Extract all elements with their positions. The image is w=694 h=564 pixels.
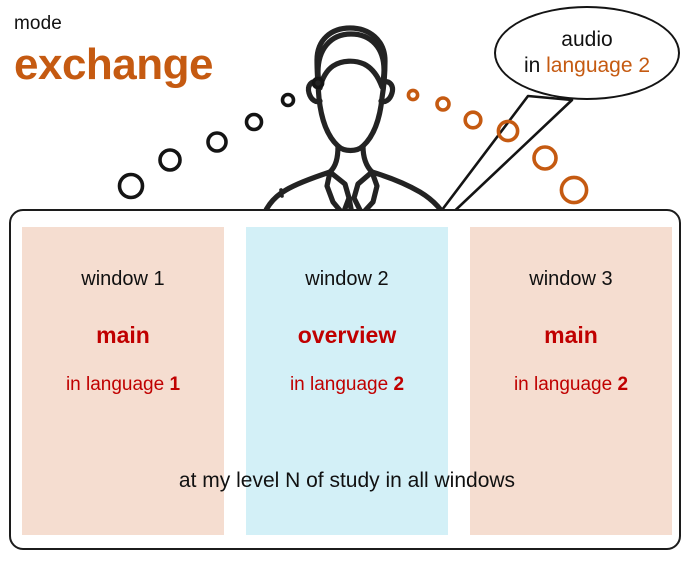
bubble-dark-2 xyxy=(160,150,180,170)
bubble-orange-3 xyxy=(465,112,481,128)
level-note: at my level N of study in all windows xyxy=(11,469,681,493)
bubble-orange-4 xyxy=(498,121,517,140)
windows-panel: window 1 main in language 1 window 2 ove… xyxy=(9,209,681,550)
bubble-dark-5 xyxy=(283,95,294,106)
window-3-language-number: 2 xyxy=(617,374,628,395)
bubble-dark-1 xyxy=(120,175,143,198)
bubble-orange-5 xyxy=(534,147,556,169)
window-3-language: in language 2 xyxy=(470,375,672,394)
window-1-language: in language 1 xyxy=(22,375,224,394)
window-1-role: main xyxy=(22,324,224,347)
mode-label: mode xyxy=(14,14,62,33)
speech-bubble-highlight: language 2 xyxy=(546,54,650,77)
window-3-role: main xyxy=(470,324,672,347)
window-3-title: window 3 xyxy=(470,269,672,289)
window-2-language: in language 2 xyxy=(246,375,448,394)
window-1-language-prefix: in language xyxy=(66,374,170,395)
bubble-dark-3 xyxy=(208,133,226,151)
bubble-orange-2 xyxy=(437,98,449,110)
bubble-orange-1 xyxy=(408,90,417,99)
window-2-language-number: 2 xyxy=(393,374,404,395)
window-2-role: overview xyxy=(246,324,448,347)
mode-name-heading: exchange xyxy=(14,40,213,91)
bubble-trail-right xyxy=(408,90,586,202)
speech-bubble-prefix: in xyxy=(524,54,546,77)
window-1-language-number: 1 xyxy=(169,374,180,395)
window-1-title: window 1 xyxy=(22,269,224,289)
speech-bubble-line-2: in language 2 xyxy=(524,53,650,79)
bubble-dark-6 xyxy=(313,78,322,87)
window-2-title: window 2 xyxy=(246,269,448,289)
speech-bubble-line-1: audio xyxy=(561,27,612,53)
window-2-language-prefix: in language xyxy=(290,374,394,395)
bubble-orange-6 xyxy=(561,177,586,202)
window-3-language-prefix: in language xyxy=(514,374,618,395)
bubble-trail-left xyxy=(120,78,323,197)
audio-speech-bubble: audio in language 2 xyxy=(494,6,680,100)
bubble-dark-4 xyxy=(247,115,262,130)
